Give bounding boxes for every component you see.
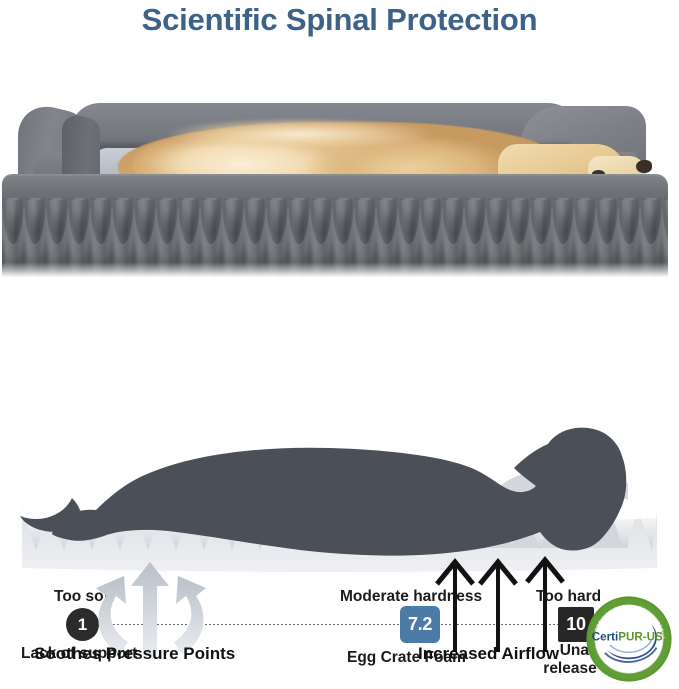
upward-curved-arrows-icon [96, 562, 206, 656]
soothes-pressure-points-label: Soothes Pressure Points [34, 644, 235, 664]
certipur-us-logo: CONTAINS CERTIFIED FLEXIBLE POLYURETHANE… [586, 596, 672, 682]
increased-airflow-label: Increased Airflow [418, 644, 559, 664]
photo-bottom-fade [0, 262, 679, 280]
dog-fur-top-fluff [150, 114, 450, 148]
dog-nose [636, 160, 652, 173]
certipur-word-purus: PUR-US [618, 631, 663, 644]
upward-straight-arrows-icon [437, 560, 563, 652]
certipur-wordmark: CertiPUR-US [592, 631, 663, 644]
page-title: Scientific Spinal Protection [0, 2, 679, 38]
certipur-logo-svg: CONTAINS CERTIFIED FLEXIBLE POLYURETHANE… [586, 596, 672, 682]
hardness-scale: Too soft 1 Lack of support Moderate hard… [0, 290, 679, 390]
certipur-word-certi: Certi [592, 631, 618, 644]
cross-section-diagram: Soothes Pressure Points Increased Airflo… [0, 398, 679, 689]
product-photo [0, 48, 679, 280]
product-infographic: Scientific Spinal Protection Too soft 1 … [0, 0, 679, 689]
